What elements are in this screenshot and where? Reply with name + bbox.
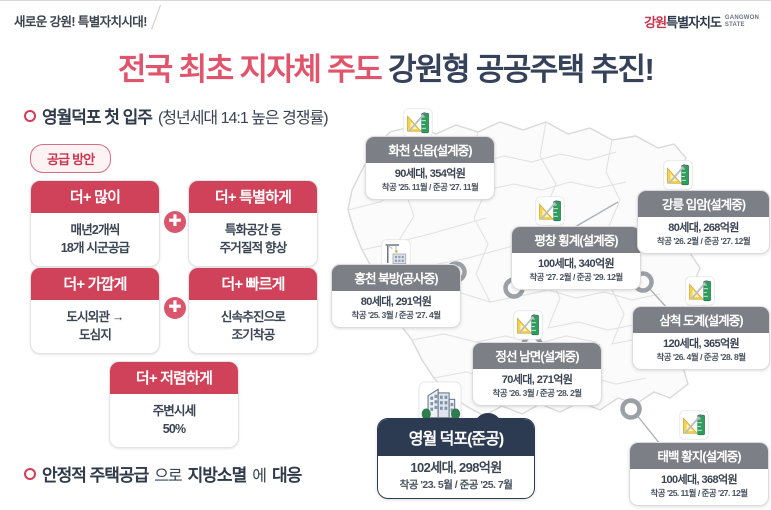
site-units: 100세대, 340억원 bbox=[520, 257, 632, 271]
supply-card-faster-body: 신속추진으로 조기착공 bbox=[189, 300, 317, 353]
site-units: 100세대, 368억원 bbox=[638, 473, 760, 487]
bullet-dot-icon bbox=[24, 468, 36, 480]
site-title: 화천 신읍(설계중) bbox=[366, 137, 494, 163]
site-body: 70세대, 271억원 착공 '26. 3월 / 준공 '28. 2월 bbox=[473, 369, 601, 405]
design-ruler-icon bbox=[679, 410, 709, 440]
site-body: 100세대, 340억원 착공 '27. 2월 / 준공 '29. 12월 bbox=[512, 253, 640, 289]
top-divider bbox=[0, 0, 771, 1]
supply-card-special: 더+ 특별하게 특화공간 등 주거질적 향상 bbox=[188, 180, 318, 267]
site-dates: 착공 '23. 5월 / 준공 '25. 7월 bbox=[386, 478, 526, 493]
logo-en-line1: GANGWON bbox=[725, 15, 759, 22]
site-callout-yeongwol[interactable]: 영월 덕포(준공) 102세대, 298억원 착공 '23. 5월 / 준공 '… bbox=[377, 418, 535, 499]
logo-accent-text: 강원 bbox=[644, 15, 666, 30]
supply-card-special-head: 더+ 특별하게 bbox=[189, 181, 317, 213]
supply-plan-badge: 공급 방안 bbox=[30, 144, 111, 173]
supply-card-many-line2: 18개 시군공급 bbox=[35, 239, 155, 257]
supply-card-faster: 더+ 빠르게 신속추진으로 조기착공 bbox=[188, 267, 318, 354]
supply-card-special-line1: 특화공간 등 bbox=[193, 221, 313, 239]
site-callout-hwacheon[interactable]: 화천 신읍(설계중) 90세대, 354억원 착공 '25. 11월 / 준공 … bbox=[365, 136, 495, 200]
site-callout-samcheok[interactable]: 삼척 도계(설계중) 120세대, 365억원 착공 '26. 4월 / 준공 … bbox=[632, 306, 770, 370]
supply-card-cheaper-line2: 50% bbox=[114, 420, 234, 438]
site-units: 80세대, 291억원 bbox=[340, 295, 452, 309]
page-title-red: 전국 최초 지자체 주도 bbox=[118, 52, 381, 87]
supply-card-many: 더+ 많이 매년2개씩 18개 시군공급 bbox=[30, 180, 160, 267]
site-dates: 착공 '25. 11월 / 준공 '27. 11월 bbox=[374, 182, 486, 194]
supply-card-closer-line1: 도시외관 → bbox=[35, 308, 155, 326]
site-units: 102세대, 298억원 bbox=[386, 460, 526, 477]
supply-card-cheaper-head: 더+ 저렴하게 bbox=[110, 362, 238, 394]
supply-card-many-head: 더+ 많이 bbox=[31, 181, 159, 213]
bullet-dot-icon bbox=[24, 110, 36, 122]
site-body: 102세대, 298억원 착공 '23. 5월 / 준공 '25. 7월 bbox=[378, 456, 534, 498]
site-callout-pyeongchang[interactable]: 평창 횡계(설계중) 100세대, 340억원 착공 '27. 2월 / 준공 … bbox=[511, 226, 641, 290]
supply-card-cheaper-line1: 주변시세 bbox=[114, 402, 234, 420]
site-callout-jeongseon[interactable]: 정선 남면(설계중) 70세대, 271억원 착공 '26. 3월 / 준공 '… bbox=[472, 342, 602, 406]
site-body: 120세대, 365억원 착공 '26. 4월 / 준공 '28. 8월 bbox=[633, 333, 769, 369]
site-title: 평창 횡계(설계중) bbox=[512, 227, 640, 253]
headline-bottom-strong-c: 대응 bbox=[272, 461, 301, 486]
supply-card-many-body: 매년2개씩 18개 시군공급 bbox=[31, 213, 159, 266]
supply-card-many-line1: 매년2개씩 bbox=[35, 221, 155, 239]
headline-bottom-normal-b: 에 bbox=[252, 462, 266, 486]
site-title: 태백 황지(설계중) bbox=[630, 443, 768, 469]
site-body: 100세대, 368억원 착공 '25. 11월 / 준공 '27. 12월 bbox=[630, 469, 768, 505]
headline-bottom-normal-a: 으로 bbox=[154, 462, 181, 486]
site-title: 홍천 북방(공사중) bbox=[332, 265, 460, 291]
logo-rest-text: 특별자치도 bbox=[666, 15, 721, 30]
page-title-navy: 강원형 공공주택 추진! bbox=[388, 52, 653, 87]
site-units: 70세대, 271억원 bbox=[481, 373, 593, 387]
supply-card-faster-head: 더+ 빠르게 bbox=[189, 268, 317, 300]
logo-english-text: GANGWON STATE bbox=[725, 15, 759, 29]
site-dates: 착공 '26. 3월 / 준공 '28. 2월 bbox=[481, 388, 593, 400]
headline-top-strong: 영월덕포 첫 입주 bbox=[42, 103, 152, 128]
design-ruler-icon bbox=[663, 160, 693, 190]
supply-card-special-body: 특화공간 등 주거질적 향상 bbox=[189, 213, 317, 266]
supply-card-cheaper: 더+ 저렴하게 주변시세 50% bbox=[109, 361, 239, 448]
site-dates: 착공 '26. 2월 / 준공 '27. 12월 bbox=[646, 236, 761, 248]
headline-top-normal: (청년세대 14:1 높은 경쟁률) bbox=[158, 104, 328, 128]
infographic-page: 새로운 강원! 특별자치시대! 강원특별자치도 GANGWON STATE 전국… bbox=[0, 0, 771, 510]
page-title: 전국 최초 지자체 주도 강원형 공공주택 추진! bbox=[0, 44, 771, 89]
gangwon-state-logo: 강원특별자치도 GANGWON STATE bbox=[644, 12, 759, 31]
plus-icon: ✚ bbox=[164, 211, 186, 233]
site-dates: 착공 '26. 4월 / 준공 '28. 8월 bbox=[641, 352, 761, 364]
supply-card-closer-head: 더+ 가깝게 bbox=[31, 268, 159, 300]
design-ruler-icon bbox=[535, 196, 565, 226]
slogan-slash-decoration bbox=[151, 5, 161, 30]
site-body: 80세대, 291억원 착공 '25. 3월 / 준공 '27. 4월 bbox=[332, 291, 460, 327]
headline-bottom-strong-a: 안정적 주택공급 bbox=[42, 461, 148, 486]
supply-card-closer-line2: 도심지 bbox=[35, 326, 155, 344]
logo-korean-text: 강원특별자치도 bbox=[644, 12, 721, 31]
site-dates: 착공 '25. 11월 / 준공 '27. 12월 bbox=[638, 488, 760, 500]
headline-bottom: 안정적 주택공급 으로 지방소멸 에 대응 bbox=[24, 461, 301, 486]
site-body: 80세대, 268억원 착공 '26. 2월 / 준공 '27. 12월 bbox=[638, 217, 769, 253]
site-units: 120세대, 365억원 bbox=[641, 337, 761, 351]
site-title: 정선 남면(설계중) bbox=[473, 343, 601, 369]
supply-card-cheaper-body: 주변시세 50% bbox=[110, 394, 238, 447]
site-callout-gangneung[interactable]: 강릉 입암(설계중) 80세대, 268억원 착공 '26. 2월 / 준공 '… bbox=[637, 190, 770, 254]
site-body: 90세대, 354억원 착공 '25. 11월 / 준공 '27. 11월 bbox=[366, 163, 494, 199]
supply-card-faster-line1: 신속추진으로 bbox=[193, 308, 313, 326]
site-title: 영월 덕포(준공) bbox=[378, 419, 534, 456]
design-ruler-icon bbox=[513, 310, 543, 340]
headline-bottom-strong-b: 지방소멸 bbox=[188, 461, 247, 486]
supply-card-closer-body: 도시외관 → 도심지 bbox=[31, 300, 159, 353]
slogan-text: 새로운 강원! 특별자치시대! bbox=[14, 11, 147, 30]
plus-icon: ✚ bbox=[164, 297, 186, 319]
supply-card-faster-line2: 조기착공 bbox=[193, 326, 313, 344]
supply-card-special-line2: 주거질적 향상 bbox=[193, 239, 313, 257]
design-ruler-icon bbox=[685, 276, 715, 306]
site-callout-hongcheon[interactable]: 홍천 북방(공사중) 80세대, 291억원 착공 '25. 3월 / 준공 '… bbox=[331, 264, 461, 328]
top-bar: 새로운 강원! 특별자치시대! 강원특별자치도 GANGWON STATE bbox=[0, 0, 771, 36]
logo-en-line2: STATE bbox=[725, 22, 759, 29]
site-title: 강릉 입암(설계중) bbox=[638, 191, 769, 217]
design-ruler-icon bbox=[403, 108, 433, 138]
supply-card-closer: 더+ 가깝게 도시외관 → 도심지 bbox=[30, 267, 160, 354]
connector-taebaek bbox=[636, 414, 660, 444]
site-dates: 착공 '27. 2월 / 준공 '29. 12월 bbox=[520, 272, 632, 284]
site-callout-taebaek[interactable]: 태백 황지(설계중) 100세대, 368억원 착공 '25. 11월 / 준공… bbox=[629, 442, 769, 506]
site-units: 90세대, 354억원 bbox=[374, 167, 486, 181]
site-units: 80세대, 268억원 bbox=[646, 221, 761, 235]
site-title: 삼척 도계(설계중) bbox=[633, 307, 769, 333]
headline-top: 영월덕포 첫 입주 (청년세대 14:1 높은 경쟁률) bbox=[24, 103, 328, 128]
site-dates: 착공 '25. 3월 / 준공 '27. 4월 bbox=[340, 310, 452, 322]
